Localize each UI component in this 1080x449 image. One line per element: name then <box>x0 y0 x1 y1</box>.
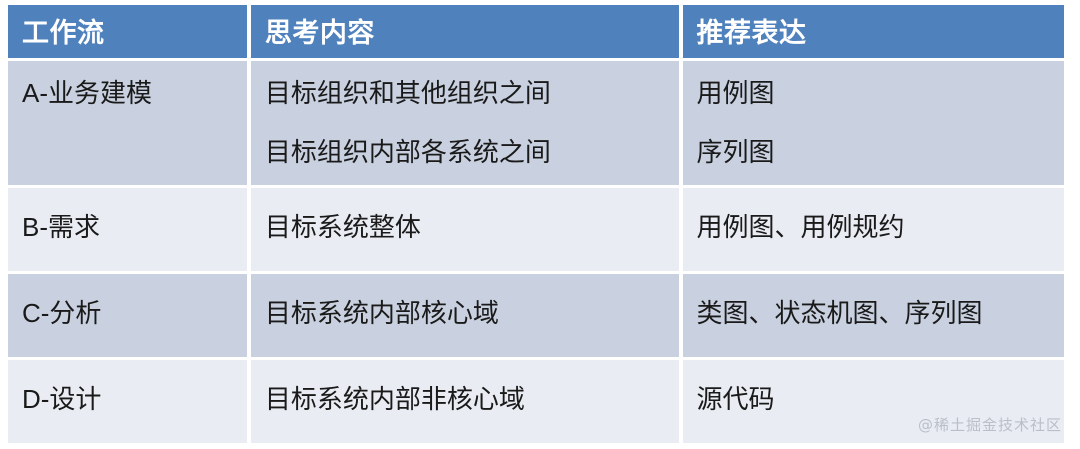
table-row: D-设计 目标系统内部非核心域 源代码 <box>8 360 1064 443</box>
cell-recommended-expression: 用例图、用例规约 <box>683 188 1064 271</box>
cell-workflow: D-设计 <box>8 360 247 443</box>
cell-line: 目标组织和其他组织之间 <box>265 64 679 123</box>
cell-workflow: C-分析 <box>8 274 247 357</box>
workflow-table: 工作流 思考内容 推荐表达 A-业务建模 目标组织和其他组织之间 目标组织内部各… <box>4 2 1068 446</box>
cell-thinking-content: 目标组织和其他组织之间 目标组织内部各系统之间 <box>251 61 679 185</box>
column-header-workflow: 工作流 <box>8 5 247 58</box>
cell-thinking-content: 目标系统整体 <box>251 188 679 271</box>
cell-lines: 目标组织和其他组织之间 目标组织内部各系统之间 <box>265 64 679 182</box>
table-body: A-业务建模 目标组织和其他组织之间 目标组织内部各系统之间 用例图 序列图 <box>8 61 1064 443</box>
table-row: B-需求 目标系统整体 用例图、用例规约 <box>8 188 1064 271</box>
table-header: 工作流 思考内容 推荐表达 <box>8 5 1064 58</box>
cell-workflow: A-业务建模 <box>8 61 247 185</box>
cell-lines: A-业务建模 <box>22 64 247 123</box>
cell-workflow: B-需求 <box>8 188 247 271</box>
cell-recommended-expression: 类图、状态机图、序列图 <box>683 274 1064 357</box>
cell-lines: 用例图 序列图 <box>697 64 1064 182</box>
cell-line: 用例图 <box>697 64 1064 123</box>
column-header-recommended-expression: 推荐表达 <box>683 5 1064 58</box>
table-row: C-分析 目标系统内部核心域 类图、状态机图、序列图 <box>8 274 1064 357</box>
table-row: A-业务建模 目标组织和其他组织之间 目标组织内部各系统之间 用例图 序列图 <box>8 61 1064 185</box>
column-header-thinking-content: 思考内容 <box>251 5 679 58</box>
table-header-row: 工作流 思考内容 推荐表达 <box>8 5 1064 58</box>
cell-thinking-content: 目标系统内部核心域 <box>251 274 679 357</box>
cell-recommended-expression: 用例图 序列图 <box>683 61 1064 185</box>
cell-line: A-业务建模 <box>22 64 247 123</box>
cell-thinking-content: 目标系统内部非核心域 <box>251 360 679 443</box>
cell-line: 目标组织内部各系统之间 <box>265 123 679 182</box>
watermark: @稀土掘金技术社区 <box>918 414 1062 435</box>
workflow-table-container: 工作流 思考内容 推荐表达 A-业务建模 目标组织和其他组织之间 目标组织内部各… <box>8 5 1072 442</box>
cell-line: 序列图 <box>697 123 1064 182</box>
